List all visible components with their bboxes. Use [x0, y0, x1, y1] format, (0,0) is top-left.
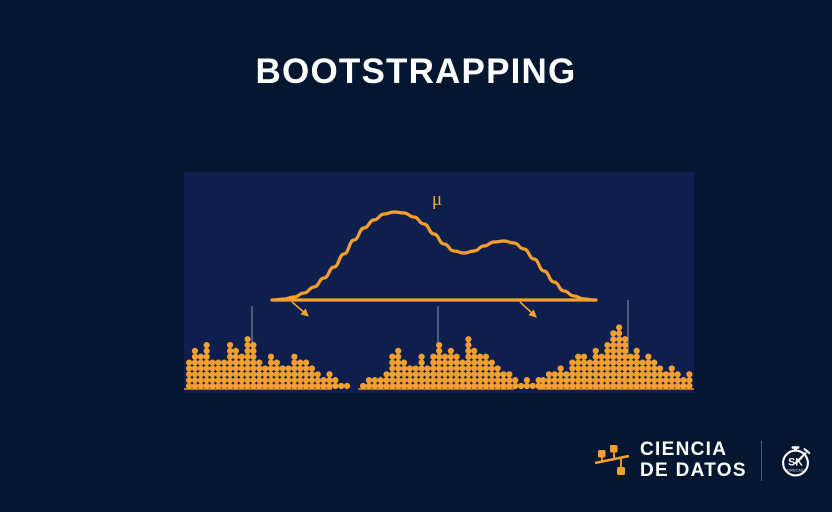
density-curve-group — [272, 212, 596, 300]
brand-line-2: DE DATOS — [640, 461, 747, 482]
page-title: BOOTSTRAPPING — [0, 52, 832, 92]
resample-arrows-group — [292, 302, 534, 315]
dotplot-group — [186, 324, 692, 389]
bootstrapping-chart: μ — [184, 172, 694, 393]
bootstrap-sample-3 — [540, 324, 692, 389]
badge-text: SK — [788, 457, 803, 469]
scatter-trend-icon — [592, 441, 632, 481]
brand-footer: CIENCIA DE DATOS SK FORECAST — [592, 432, 792, 490]
brand-wordmark: CIENCIA DE DATOS — [640, 440, 747, 481]
brand-divider — [761, 441, 762, 481]
stopwatch-icon: SK FORECAST — [775, 440, 817, 482]
mu-annotation-label: μ — [432, 189, 442, 210]
badge-subtext: FORECAST — [785, 468, 806, 472]
bootstrap-sample-1 — [186, 336, 350, 389]
bootstrapping-figure: μ — [184, 172, 694, 393]
bootstrap-sample-2 — [360, 336, 542, 389]
brand-line-1: CIENCIA — [640, 440, 747, 461]
